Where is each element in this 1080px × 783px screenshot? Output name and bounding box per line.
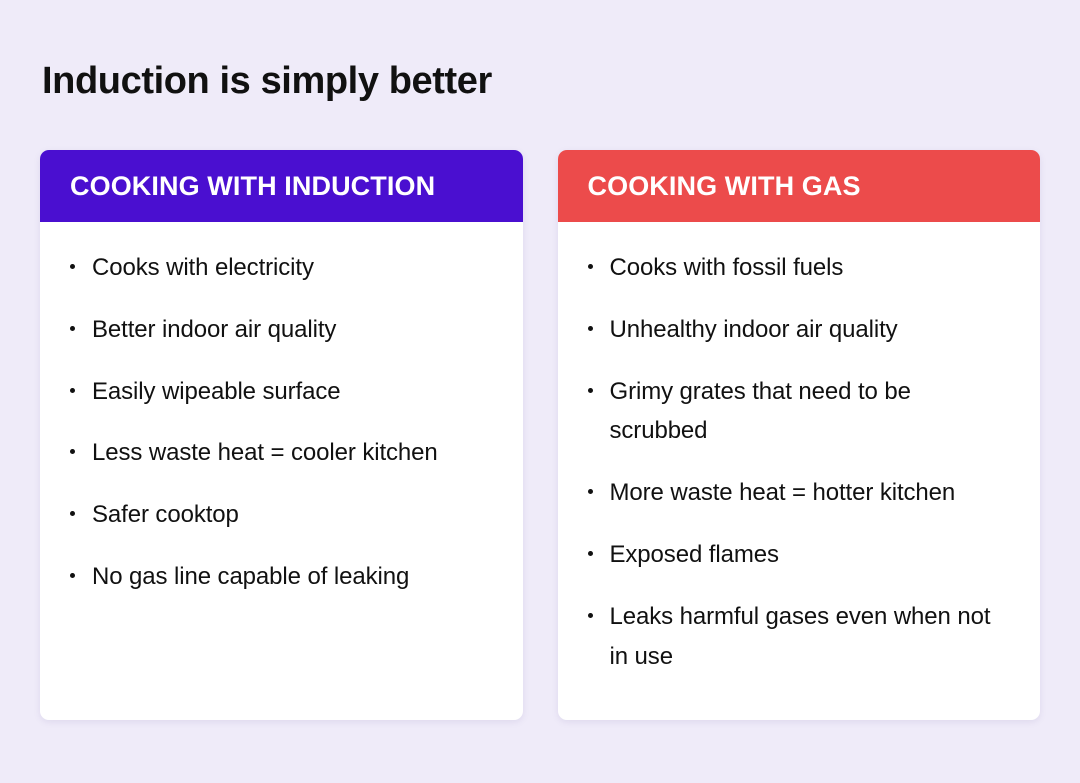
- card-header-title-induction: COOKING WITH INDUCTION: [70, 173, 435, 200]
- bullet-dot-icon: [588, 326, 593, 331]
- bullet-dot-icon: [70, 511, 75, 516]
- list-item: Less waste heat = cooler kitchen: [70, 433, 497, 473]
- bullet-dot-icon: [588, 613, 593, 618]
- list-item: Exposed flames: [588, 535, 1015, 575]
- list-item-label: Grimy grates that need to be scrubbed: [610, 378, 911, 445]
- bullet-dot-icon: [70, 573, 75, 578]
- list-item-label: Unhealthy indoor air quality: [610, 316, 898, 343]
- card-header-induction: COOKING WITH INDUCTION: [40, 150, 523, 222]
- bullet-dot-icon: [70, 326, 75, 331]
- list-item: More waste heat = hotter kitchen: [588, 473, 1015, 513]
- bullet-dot-icon: [70, 449, 75, 454]
- list-item-label: More waste heat = hotter kitchen: [610, 479, 956, 506]
- list-item: No gas line capable of leaking: [70, 557, 497, 597]
- list-item: Cooks with electricity: [70, 248, 497, 288]
- list-item: Easily wipeable surface: [70, 372, 497, 412]
- list-item: Grimy grates that need to be scrubbed: [588, 372, 1015, 452]
- list-item-label: Better indoor air quality: [92, 316, 336, 343]
- list-item: Cooks with fossil fuels: [588, 248, 1015, 288]
- card-gas: COOKING WITH GAS Cooks with fossil fuels…: [558, 150, 1041, 720]
- card-header-title-gas: COOKING WITH GAS: [588, 173, 861, 200]
- comparison-infographic: Induction is simply better COOKING WITH …: [0, 0, 1080, 783]
- list-item-label: No gas line capable of leaking: [92, 563, 409, 590]
- list-item: Leaks harmful gases even when not in use: [588, 597, 1015, 677]
- list-item-label: Less waste heat = cooler kitchen: [92, 439, 438, 466]
- card-body-gas: Cooks with fossil fuels Unhealthy indoor…: [558, 222, 1041, 720]
- bullet-dot-icon: [70, 388, 75, 393]
- bullet-dot-icon: [588, 551, 593, 556]
- bullet-list-gas: Cooks with fossil fuels Unhealthy indoor…: [588, 248, 1015, 677]
- list-item-label: Cooks with electricity: [92, 254, 314, 281]
- list-item: Safer cooktop: [70, 495, 497, 535]
- list-item-label: Safer cooktop: [92, 501, 239, 528]
- comparison-cards-container: COOKING WITH INDUCTION Cooks with electr…: [40, 150, 1040, 720]
- list-item-label: Leaks harmful gases even when not in use: [610, 603, 991, 670]
- list-item-label: Easily wipeable surface: [92, 378, 341, 405]
- card-body-induction: Cooks with electricity Better indoor air…: [40, 222, 523, 720]
- card-induction: COOKING WITH INDUCTION Cooks with electr…: [40, 150, 523, 720]
- list-item-label: Exposed flames: [610, 541, 779, 568]
- bullet-dot-icon: [588, 264, 593, 269]
- bullet-dot-icon: [70, 264, 75, 269]
- list-item-label: Cooks with fossil fuels: [610, 254, 844, 281]
- list-item: Better indoor air quality: [70, 310, 497, 350]
- bullet-list-induction: Cooks with electricity Better indoor air…: [70, 248, 497, 597]
- list-item: Unhealthy indoor air quality: [588, 310, 1015, 350]
- bullet-dot-icon: [588, 489, 593, 494]
- page-title: Induction is simply better: [42, 60, 492, 104]
- bullet-dot-icon: [588, 388, 593, 393]
- card-header-gas: COOKING WITH GAS: [558, 150, 1041, 222]
